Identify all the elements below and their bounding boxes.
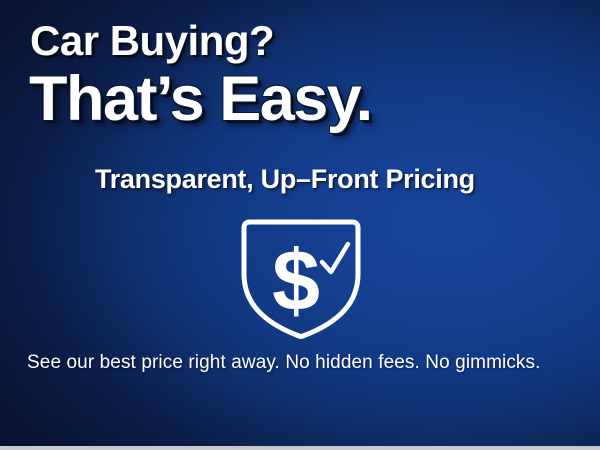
car-buying-promo-banner: Car Buying? That’s Easy. Transparent, Up… (0, 0, 600, 450)
bottom-accent-bar (0, 446, 600, 450)
svg-text:$: $ (272, 233, 320, 329)
headline-primary-line-2: That’s Easy. (29, 68, 372, 131)
shield-dollar-check-icon: $ (236, 218, 366, 342)
tagline-text: See our best price right away. No hidden… (27, 353, 541, 372)
check-mark-icon (322, 244, 348, 272)
subheadline-pricing: Transparent, Up–Front Pricing (95, 166, 475, 193)
headline-primary-line-1: Car Buying? (30, 20, 274, 62)
dollar-sign-glyph: $ (272, 233, 320, 329)
